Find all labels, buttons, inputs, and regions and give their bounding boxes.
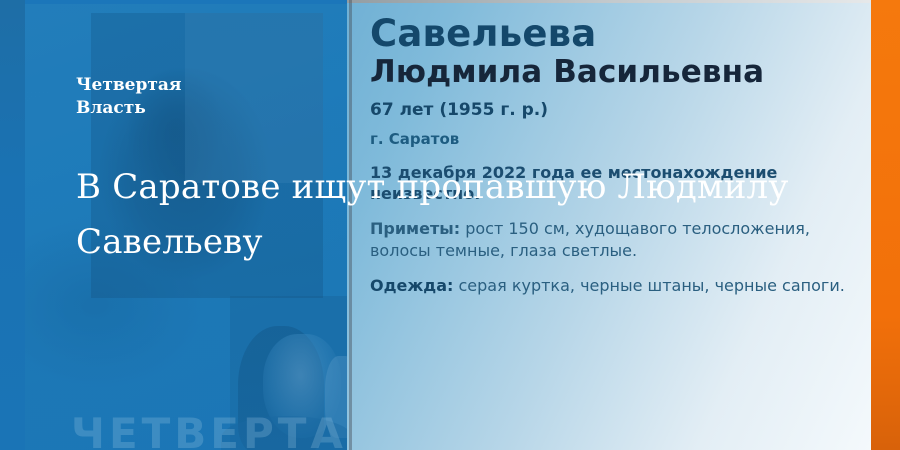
left-panel-edge <box>0 0 25 450</box>
photo-watermark: ЧЕТВЕРТАЯ <box>71 409 347 450</box>
person-clothes-label: Одежда: <box>370 276 453 295</box>
person-given-name: Людмила Васильевна <box>370 55 860 90</box>
article-preview-card: Савельева Людмила Васильевна 67 лет (195… <box>0 0 900 450</box>
outlet-brand-line-2: Власть <box>76 97 306 120</box>
person-clothes-text: серая куртка, черные штаны, черные сапог… <box>453 276 844 295</box>
person-surname: Савельева <box>370 14 860 54</box>
outlet-brand-line-1: Четвертая <box>76 74 306 97</box>
outlet-brand[interactable]: Четвертая Власть <box>76 74 306 121</box>
person-clothes: Одежда: серая куртка, черные штаны, черн… <box>370 275 852 296</box>
person-city: г. Саратов <box>370 130 860 148</box>
article-headline[interactable]: В Саратове ищут пропавшую Людмилу Савель… <box>76 160 876 270</box>
person-age: 67 лет (1955 г. р.) <box>370 100 860 120</box>
